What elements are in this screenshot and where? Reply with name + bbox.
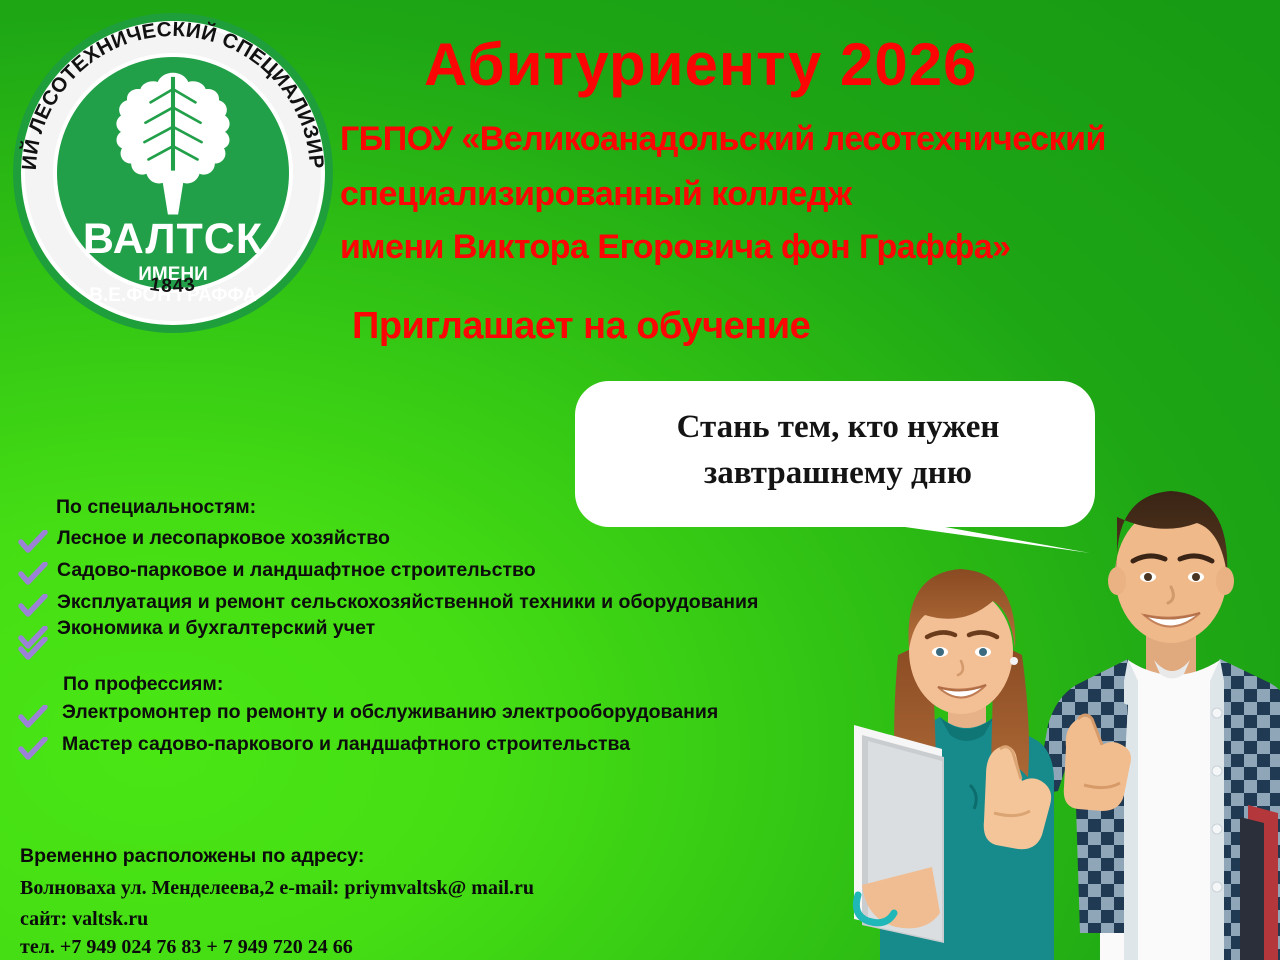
check-icon bbox=[18, 637, 48, 663]
specialties-heading: По специальностям: bbox=[56, 496, 256, 519]
contact-address-label: Временно расположены по адресу: bbox=[20, 845, 364, 868]
check-icon bbox=[18, 737, 48, 763]
bubble-line-1: Стань тем, кто нужен bbox=[592, 405, 1084, 451]
professions-heading: По профессиям: bbox=[63, 673, 223, 696]
org-name-line-3: имени Виктора Егоровича фон Граффа» bbox=[340, 228, 1011, 267]
poster-canvas: ВЕЛИКОАНАДОЛЬСКИЙ ЛЕСОТЕХНИЧЕСКИЙ СПЕЦИА… bbox=[0, 0, 1280, 960]
list-item: Садово-парковое и ландшафтное строительс… bbox=[57, 559, 536, 582]
contact-phone: тел. +7 949 024 76 83 + 7 949 720 24 66 bbox=[20, 936, 353, 959]
list-item: Мастер садово-паркового и ландшафтного с… bbox=[62, 733, 630, 756]
college-logo: ВЕЛИКОАНАДОЛЬСКИЙ ЛЕСОТЕХНИЧЕСКИЙ СПЕЦИА… bbox=[8, 8, 338, 338]
check-icon bbox=[18, 562, 48, 588]
check-icon bbox=[18, 594, 48, 620]
students-photo bbox=[828, 455, 1280, 960]
org-name-line-2: специализированный колледж bbox=[340, 175, 852, 214]
contact-website: сайт: valtsk.ru bbox=[20, 908, 148, 931]
org-name-line-1: ГБПОУ «Великоанадольский лесотехнический bbox=[340, 120, 1106, 159]
check-icon bbox=[18, 705, 48, 731]
invitation-subtitle: Приглашает на обучение bbox=[352, 305, 810, 348]
page-title: Абитуриенту 2026 bbox=[424, 30, 977, 99]
male-student bbox=[1038, 491, 1280, 960]
list-item: Лесное и лесопарковое хозяйство bbox=[57, 527, 390, 550]
list-item: Электромонтер по ремонту и обслуживанию … bbox=[62, 701, 718, 724]
logo-abbr: ВАЛТСК bbox=[83, 215, 263, 263]
list-item: Экономика и бухгалтерский учет bbox=[57, 617, 375, 640]
list-item: Эксплуатация и ремонт сельскохозяйственн… bbox=[57, 591, 758, 614]
contact-address: Волноваха ул. Менделеева,2 e-mail: priym… bbox=[20, 877, 534, 900]
check-icon bbox=[18, 530, 48, 556]
female-student bbox=[854, 569, 1054, 960]
